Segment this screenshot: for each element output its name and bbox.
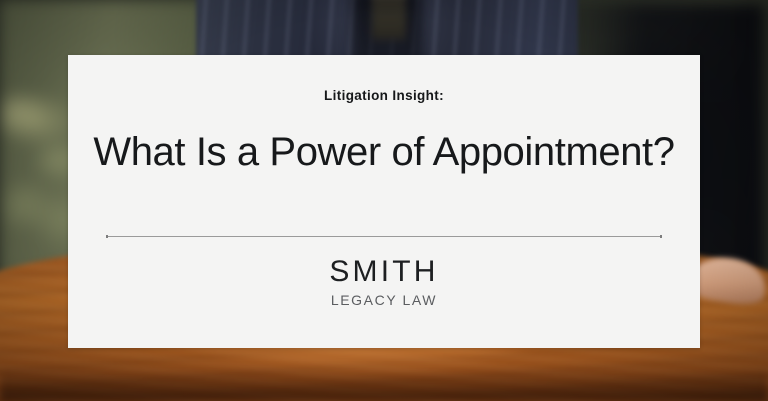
- brand-logo: SMITH LEGACY LAW: [329, 257, 438, 307]
- page-title: What Is a Power of Appointment?: [93, 131, 674, 174]
- desk-front-shadow: [0, 367, 768, 401]
- eyebrow-label: Litigation Insight:: [324, 89, 444, 103]
- logo-primary-text: SMITH: [329, 257, 438, 287]
- divider: [106, 236, 662, 237]
- title-card: Litigation Insight: What Is a Power of A…: [68, 55, 700, 348]
- logo-secondary-text: LEGACY LAW: [329, 293, 438, 307]
- slide-canvas: Litigation Insight: What Is a Power of A…: [0, 0, 768, 401]
